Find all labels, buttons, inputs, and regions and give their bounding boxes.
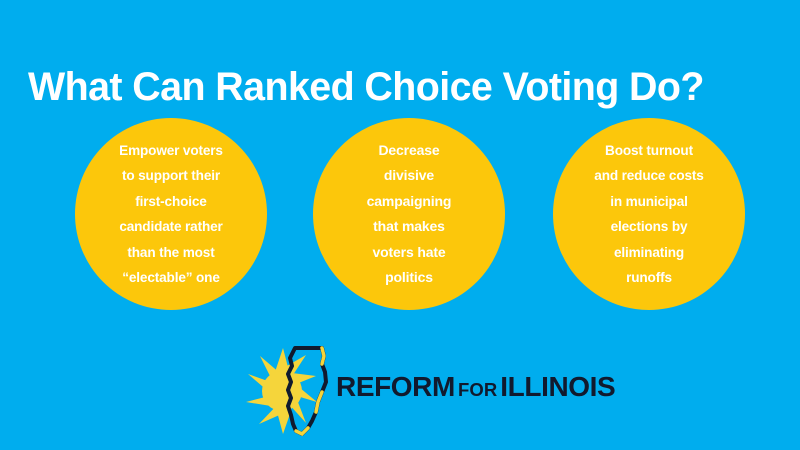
illinois-accent-east-icon [316, 392, 322, 412]
illinois-accent-north-icon [322, 348, 324, 364]
benefit-circle-text: Decrease divisive campaigning that makes… [319, 138, 499, 291]
benefit-circle-text: Boost turnout and reduce costs in munici… [559, 138, 739, 291]
logo-word-for: FOR [455, 379, 500, 400]
benefit-circles-group: Empower voters to support their first-ch… [0, 118, 800, 312]
illinois-accent-south-icon [296, 428, 308, 434]
benefit-circle-boost-turnout: Boost turnout and reduce costs in munici… [553, 118, 745, 310]
sun-and-illinois-outline-icon [236, 342, 346, 440]
page-title: What Can Ranked Choice Voting Do? [28, 63, 777, 111]
logo-word-reform: REFORM [336, 371, 455, 402]
benefit-circle-empower-voters: Empower voters to support their first-ch… [75, 118, 267, 310]
logo-wordmark: REFORMFORILLINOIS [336, 370, 615, 404]
slide-canvas: What Can Ranked Choice Voting Do? Empowe… [0, 0, 800, 450]
reform-for-illinois-logo: REFORMFORILLINOIS [236, 342, 568, 440]
logo-word-illinois: ILLINOIS [500, 371, 615, 402]
sun-icon [246, 348, 317, 434]
benefit-circle-decrease-divisive-campaigning: Decrease divisive campaigning that makes… [313, 118, 505, 310]
benefit-circle-text: Empower voters to support their first-ch… [81, 138, 261, 291]
